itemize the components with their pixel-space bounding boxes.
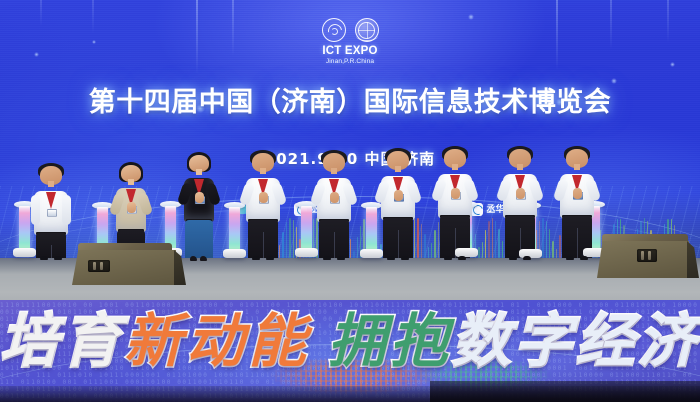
clapping-hands — [516, 188, 525, 199]
data-bar — [434, 230, 435, 258]
trouser-split — [334, 232, 335, 260]
emblem-circles — [287, 18, 413, 42]
clapping-hands — [127, 202, 136, 213]
data-bar — [498, 229, 499, 258]
clapping-hands — [195, 192, 204, 203]
shoe-right — [401, 256, 409, 260]
neck — [517, 164, 523, 170]
podium-base — [360, 249, 383, 258]
shoe-left — [40, 256, 48, 260]
shoe-left — [444, 256, 452, 260]
slogan-char: 育 — [62, 294, 124, 378]
name-badge — [47, 209, 57, 217]
data-bar — [421, 224, 422, 258]
neck — [196, 169, 202, 175]
trouser-split — [398, 230, 399, 260]
data-bar — [546, 221, 547, 258]
data-bar — [279, 245, 280, 258]
clapping-hands — [330, 192, 339, 203]
clapping-hands — [451, 188, 460, 199]
clapping-hands — [259, 192, 268, 203]
trouser-split — [263, 232, 264, 260]
data-bar — [282, 232, 283, 258]
podium-pillar — [228, 197, 241, 255]
podium-base — [13, 248, 36, 257]
slogan-char: 能 — [248, 294, 310, 378]
podium-base — [223, 249, 246, 258]
slogan-char: 经 — [576, 294, 638, 378]
data-bar — [438, 222, 439, 258]
data-bar — [478, 247, 479, 258]
podium-base — [295, 248, 318, 257]
shoe-left — [509, 256, 517, 260]
shoe-left — [252, 256, 260, 260]
data-bar — [417, 218, 418, 258]
data-bar — [289, 218, 290, 258]
slogan-char: 动 — [186, 294, 248, 378]
stage-photo-scene: ICT EXPO Jinan,P.R.China 第十四届中国（济南）国际信息技… — [0, 0, 700, 402]
trouser-split — [577, 228, 578, 260]
photo-bottom-edge-right — [430, 381, 700, 402]
neck — [128, 179, 134, 185]
data-bar — [424, 234, 425, 258]
data-bar — [556, 249, 557, 258]
lanyard — [46, 192, 56, 209]
shoe-left — [190, 256, 197, 261]
podium-base-wrap — [228, 249, 241, 259]
shoe-right — [54, 256, 62, 260]
slogan-char: 济 — [638, 294, 700, 378]
slogan-char: 抱 — [390, 294, 452, 378]
neck — [395, 166, 401, 172]
ict-swirl-emblem-icon — [322, 18, 346, 42]
slogan-char: 数 — [452, 294, 514, 378]
slogan-char: 拥 — [328, 294, 390, 378]
data-bar — [428, 247, 429, 258]
data-bar — [485, 230, 486, 258]
expo-emblem-block: ICT EXPO Jinan,P.R.China — [287, 18, 413, 70]
emblem-subtitle: Jinan,P.R.China — [287, 58, 413, 65]
data-bar — [502, 241, 503, 258]
data-bar — [542, 218, 543, 258]
slogan-char: 新 — [124, 294, 186, 378]
slogan-char: 培 — [0, 294, 62, 378]
shoe-left — [566, 256, 574, 260]
slogan-char: 字 — [514, 294, 576, 378]
data-bar — [414, 219, 415, 258]
podium-pillar — [365, 197, 378, 255]
podium-pillar — [18, 196, 31, 254]
shoe-right — [580, 256, 588, 260]
sponsor-name-chenghua-2: 丞华 — [486, 205, 504, 214]
emblem-title: ICT EXPO — [287, 45, 413, 57]
stage-monitor-wedge-left — [72, 243, 186, 285]
event-slogan-calligraphy: 培育新动能 拥抱数字经济 — [0, 300, 700, 372]
data-bar — [350, 239, 351, 258]
shoe-right — [337, 256, 345, 260]
data-bar — [286, 222, 287, 258]
shoe-left — [323, 256, 331, 260]
data-bar — [492, 218, 493, 258]
data-bar — [431, 243, 432, 258]
event-main-title: 第十四届中国（济南）国际信息技术博览会 — [0, 80, 700, 119]
neck — [452, 164, 458, 170]
shoe-right — [266, 256, 274, 260]
data-bar — [353, 251, 354, 258]
arm-right — [62, 195, 71, 225]
data-bar — [293, 220, 294, 258]
podium-base-wrap — [18, 248, 31, 258]
skirt — [185, 220, 213, 260]
data-bar — [495, 221, 496, 258]
shoe-right — [458, 256, 466, 260]
neck — [260, 168, 266, 174]
shoe-right — [200, 256, 207, 261]
clapping-hands — [573, 188, 582, 199]
neck — [574, 164, 580, 170]
clapping-hands — [394, 190, 403, 201]
neck — [331, 168, 337, 174]
shoe-left — [387, 256, 395, 260]
stage-monitor-wedge-right — [595, 234, 699, 278]
data-bar — [549, 229, 550, 258]
data-bar — [482, 242, 483, 258]
podium-base-wrap — [300, 248, 313, 258]
data-bar — [559, 235, 560, 258]
data-bar — [488, 221, 489, 258]
shoe-right — [523, 256, 531, 260]
arm-left — [31, 195, 40, 225]
globe-laurel-emblem-icon — [355, 18, 379, 42]
data-bar — [552, 241, 553, 258]
event-date-location: 2021.9.10 中国·济南 — [0, 148, 700, 169]
podium-pillar — [300, 196, 313, 254]
podium-base-wrap — [365, 249, 378, 259]
neck — [48, 181, 54, 187]
data-bar — [357, 237, 358, 258]
